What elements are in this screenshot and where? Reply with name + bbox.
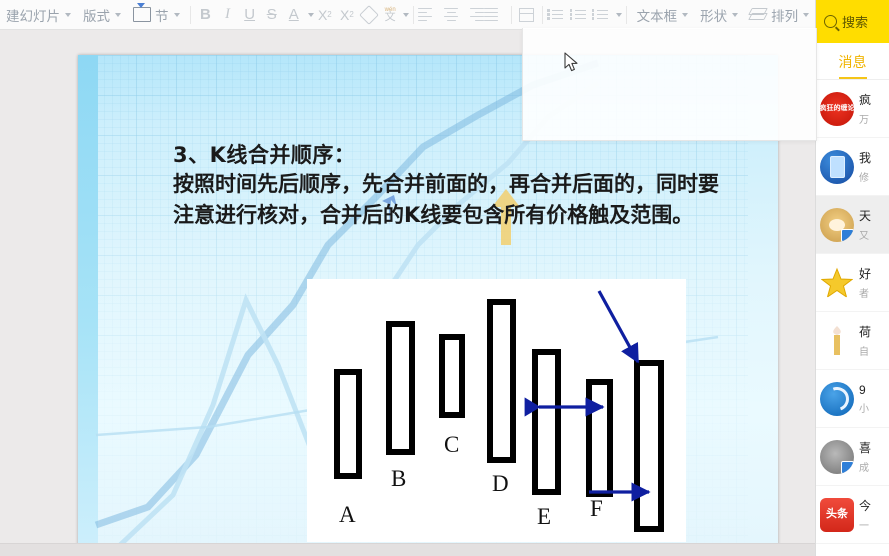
chevron-down-icon[interactable] — [682, 13, 688, 17]
bullet-list-button[interactable] — [546, 3, 568, 27]
phone-badge-icon — [841, 229, 854, 242]
messenger-sidebar[interactable]: 搜索 消息 疯狂的缠论疯万我修天又好者荷自9小喜成头条今一 — [815, 0, 889, 556]
subscript-button[interactable]: X2 — [336, 3, 358, 27]
candlestick-diagram-image[interactable]: ABCDEFG — [307, 279, 686, 542]
numbered-list-icon — [569, 3, 591, 27]
italic-button[interactable]: I — [217, 3, 239, 27]
layout-label: 版式 — [83, 5, 110, 25]
shape-label: 形状 — [700, 5, 727, 25]
chevron-down-icon[interactable] — [174, 13, 180, 17]
chevron-down-icon[interactable] — [803, 13, 809, 17]
message-preview: 万 — [859, 111, 871, 126]
layout-button[interactable]: 版式 — [77, 2, 127, 28]
chevron-down-icon[interactable] — [616, 13, 622, 17]
align-center-button[interactable] — [440, 3, 462, 27]
align-left-icon — [418, 3, 440, 27]
chevron-down-icon[interactable] — [403, 13, 409, 17]
candlestick-bar-f — [589, 382, 610, 494]
clear-formatting-button[interactable] — [358, 3, 380, 27]
tab-messages-label: 消息 — [839, 52, 867, 79]
phone-badge-icon — [841, 461, 854, 474]
chevron-down-icon[interactable] — [732, 13, 738, 17]
numbered-list-button[interactable] — [569, 3, 591, 27]
message-title: 今 — [859, 497, 871, 514]
message-list-item[interactable]: 9小 — [816, 370, 889, 428]
workspace-bottom-strip — [0, 543, 815, 556]
toolbar-divider — [511, 6, 512, 24]
superscript-label: X — [318, 7, 327, 23]
section-label: 节 — [155, 5, 169, 25]
message-list-item[interactable]: 头条今一 — [816, 486, 889, 544]
subscript-index: 2 — [349, 10, 353, 19]
message-title: 好 — [859, 265, 871, 282]
message-preview: 小 — [859, 400, 869, 415]
candle-icon — [820, 324, 854, 358]
monkey-icon — [820, 208, 854, 242]
arrange-label: 排列 — [771, 5, 798, 25]
message-list-item[interactable]: 荷自 — [816, 312, 889, 370]
pinyin-guide-button[interactable]: wén 文 — [380, 3, 400, 27]
justify-button[interactable] — [484, 3, 506, 27]
candlestick-bar-g — [637, 363, 661, 529]
bar-label-a: A — [339, 502, 356, 527]
eraser-icon — [359, 5, 379, 25]
message-title: 荷 — [859, 323, 871, 340]
message-title: 9 — [859, 383, 869, 397]
message-preview: 又 — [859, 227, 871, 242]
candlestick-bar-c — [442, 337, 462, 415]
candlestick-bar-d — [490, 302, 513, 460]
subscript-label: X — [340, 7, 349, 23]
align-left-button[interactable] — [418, 3, 440, 27]
bar-label-d: D — [492, 471, 509, 496]
columns-button[interactable] — [515, 3, 537, 27]
arrange-button[interactable]: 排列 — [744, 2, 815, 28]
diagonal-arrow-to-g — [599, 291, 638, 362]
red-circle-icon: 疯狂的缠论 — [820, 92, 854, 126]
message-title: 我 — [859, 149, 871, 166]
textbox-button[interactable]: 文本框 — [631, 2, 695, 28]
slide-body-line-2: 注意进行核对，合并后的K线要包含所有价格触及范围。 — [173, 201, 778, 231]
message-title: 喜 — [859, 439, 871, 456]
font-color-button[interactable]: A — [283, 3, 305, 27]
bold-button[interactable]: B — [194, 3, 216, 27]
message-list-item[interactable]: 疯狂的缠论疯万 — [816, 80, 889, 138]
message-title: 天 — [859, 207, 871, 224]
gold-star-icon — [820, 266, 854, 300]
superscript-exponent: 2 — [327, 10, 331, 19]
strikethrough-button[interactable]: S — [261, 3, 283, 27]
message-preview: 自 — [859, 343, 871, 358]
slide-heading: 3、K线合并顺序： — [173, 141, 778, 169]
blue-phone-icon — [820, 150, 854, 184]
search-bar[interactable]: 搜索 — [816, 0, 889, 43]
section-icon — [133, 7, 151, 22]
message-list-item[interactable]: 我修 — [816, 138, 889, 196]
superscript-button[interactable]: X2 — [314, 3, 336, 27]
bar-label-b: B — [391, 466, 406, 491]
candlestick-bar-e — [535, 352, 558, 492]
blue-globe-icon — [820, 382, 854, 416]
tab-messages[interactable]: 消息 — [816, 43, 889, 79]
underline-button[interactable]: U — [239, 3, 261, 27]
textbox-label: 文本框 — [637, 5, 678, 25]
new-slide-label: 建幻灯片 — [6, 5, 60, 25]
toutiao-icon: 头条 — [820, 498, 854, 532]
message-preview: 修 — [859, 169, 871, 184]
chevron-down-icon[interactable] — [65, 13, 71, 17]
message-list[interactable]: 疯狂的缠论疯万我修天又好者荷自9小喜成头条今一 — [816, 79, 889, 544]
justify-icon — [484, 3, 506, 27]
toolbar-divider — [413, 6, 414, 24]
bullet-list-icon — [546, 3, 568, 27]
message-list-item[interactable]: 好者 — [816, 254, 889, 312]
chevron-down-icon[interactable] — [115, 13, 121, 17]
bar-label-c: C — [444, 432, 459, 457]
message-preview: 者 — [859, 285, 871, 300]
bar-label-e: E — [537, 504, 551, 529]
candlestick-diagram-svg: ABCDEFG — [307, 279, 686, 542]
align-right-icon — [462, 3, 484, 27]
search-label: 搜索 — [842, 12, 868, 31]
message-title: 疯 — [859, 91, 871, 108]
line-spacing-icon — [591, 3, 613, 27]
ribbon-toolbar: 建幻灯片 版式 节 B I U S A X2 X2 wén 文 — [0, 0, 815, 30]
align-center-icon — [440, 3, 462, 27]
pinyin-bottom-label: 文 — [385, 13, 396, 22]
slide-text-block[interactable]: 3、K线合并顺序： 按照时间先后顺序，先合并前面的，再合并后面的，同时要 注意进… — [173, 141, 778, 231]
candlestick-bar-a — [337, 372, 359, 476]
message-list-item[interactable]: 喜成 — [816, 428, 889, 486]
shape-button[interactable]: 形状 — [694, 2, 744, 28]
dropdown-overlay-panel[interactable] — [522, 28, 817, 141]
bar-label-g: G — [639, 541, 656, 542]
new-slide-button[interactable]: 建幻灯片 — [0, 2, 77, 28]
gray-photo-icon — [820, 440, 854, 474]
toolbar-divider — [542, 6, 543, 24]
message-preview: 成 — [859, 459, 871, 474]
section-button[interactable]: 节 — [127, 2, 186, 28]
slide-body-line-1: 按照时间先后顺序，先合并前面的，再合并后面的，同时要 — [173, 170, 778, 200]
candlestick-bar-b — [389, 324, 412, 452]
arrange-layers-icon — [750, 8, 766, 22]
columns-icon — [515, 3, 537, 27]
message-preview: 一 — [859, 517, 871, 532]
toolbar-divider — [190, 6, 191, 24]
message-list-item[interactable]: 天又 — [816, 196, 889, 254]
bar-label-f: F — [590, 496, 603, 521]
line-spacing-button[interactable] — [591, 3, 613, 27]
align-right-button[interactable] — [462, 3, 484, 27]
search-icon — [824, 15, 837, 28]
toolbar-divider — [626, 6, 627, 24]
